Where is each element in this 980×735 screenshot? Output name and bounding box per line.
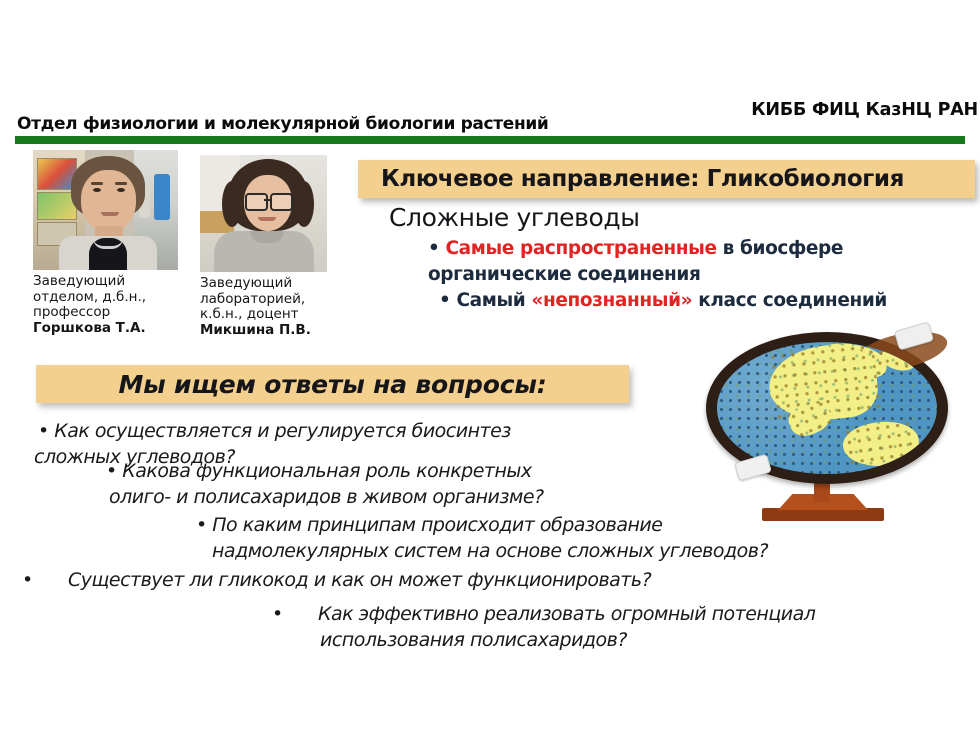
question-item-5: •Как эффективно реализовать огромный пот… (272, 601, 972, 653)
question-3-line-1: По каким принципам происходит образовани… (207, 514, 663, 536)
role-line-2: отделом, д.б.н., (33, 289, 146, 305)
bullet-2-segment-1: Самый (456, 290, 531, 311)
bullet-glyph: • (428, 238, 439, 259)
role-line-3: профессор (33, 304, 110, 320)
question-item-4: •Существует ли гликокод и как он может ф… (22, 567, 762, 593)
key-direction-banner: Ключевое направление: Гликобиология (358, 160, 975, 198)
question-item-2: • Какова функциональная роль конкретных … (106, 458, 666, 510)
bullet-1-continuation: органические соединения (428, 264, 700, 285)
bullet-2-segment-3: класс соединений (692, 290, 887, 311)
bullet-2-segment-2: «непознанный» (531, 290, 692, 311)
questions-banner-text: Мы ищем ответы на вопросы: (118, 370, 546, 399)
bullet-glyph: • (22, 567, 68, 593)
key-direction-bullet-2: • Самый «непознанный» класс соединений (439, 288, 980, 314)
person-name: Горшкова Т.А. (33, 321, 183, 337)
person-card-gorshkova: Заведующий отделом, д.б.н., профессор Го… (33, 150, 183, 336)
role-line-2: лабораторией, (200, 291, 305, 307)
questions-banner: Мы ищем ответы на вопросы: (36, 365, 629, 403)
bullet-glyph: • (38, 420, 49, 442)
person-card-mikshina: Заведующий лабораторией, к.б.н., доцент … (200, 155, 350, 338)
portrait-mikshina-photo (200, 155, 327, 272)
key-direction-banner-text: Ключевое направление: Гликобиология (358, 166, 904, 192)
complex-carbohydrates-heading: Сложные углеводы (389, 203, 640, 232)
question-2-line-1: Какова функциональная роль конкретных (117, 460, 532, 482)
portrait-gorshkova-photo (33, 150, 178, 270)
portrait-gorshkova-caption: Заведующий отделом, д.б.н., профессор Го… (33, 274, 183, 336)
bullet-1-segment-1: Самые распространенные (445, 238, 716, 259)
organization-label: КИББ ФИЦ КазНЦ РАН (728, 100, 978, 120)
globe-sphere (717, 342, 937, 474)
bullet-glyph: • (439, 290, 450, 311)
key-direction-bullet-1-cont: органические соединения (428, 262, 980, 288)
role-line-3: к.б.н., доцент (200, 306, 299, 322)
bullet-glyph: • (272, 601, 318, 627)
header-divider-rule (15, 136, 965, 144)
key-direction-bullet-1: • Самые распространенные в биосфере (428, 236, 980, 262)
question-3-line-2: надмолекулярных систем на основе сложных… (212, 538, 876, 564)
person-name: Микшина П.В. (200, 323, 350, 339)
portrait-mikshina-caption: Заведующий лабораторией, к.б.н., доцент … (200, 276, 350, 338)
question-4-line-1: Существует ли гликокод и как он может фу… (68, 569, 651, 591)
globe-illustration (700, 332, 960, 530)
role-line-1: Заведующий (33, 273, 125, 289)
bullet-glyph: • (106, 460, 117, 482)
bullet-1-segment-2: в биосфере (717, 238, 843, 259)
question-5-line-1: Как эффективно реализовать огромный поте… (318, 603, 815, 625)
question-1-line-1: Как осуществляется и регулируется биосин… (49, 420, 511, 442)
bullet-glyph: • (196, 514, 207, 536)
globe-landmass-group (717, 342, 937, 474)
department-title: Отдел физиологии и молекулярной биологии… (17, 114, 548, 134)
key-direction-bullet-list: • Самые распространенные в биосфере орга… (428, 236, 980, 314)
role-line-1: Заведующий (200, 275, 292, 291)
question-2-line-2: олиго- и полисахаридов в живом организме… (109, 484, 666, 510)
question-5-line-2: использования полисахаридов? (320, 627, 972, 653)
slide-canvas: КИББ ФИЦ КазНЦ РАН Отдел физиологии и мо… (0, 0, 980, 735)
